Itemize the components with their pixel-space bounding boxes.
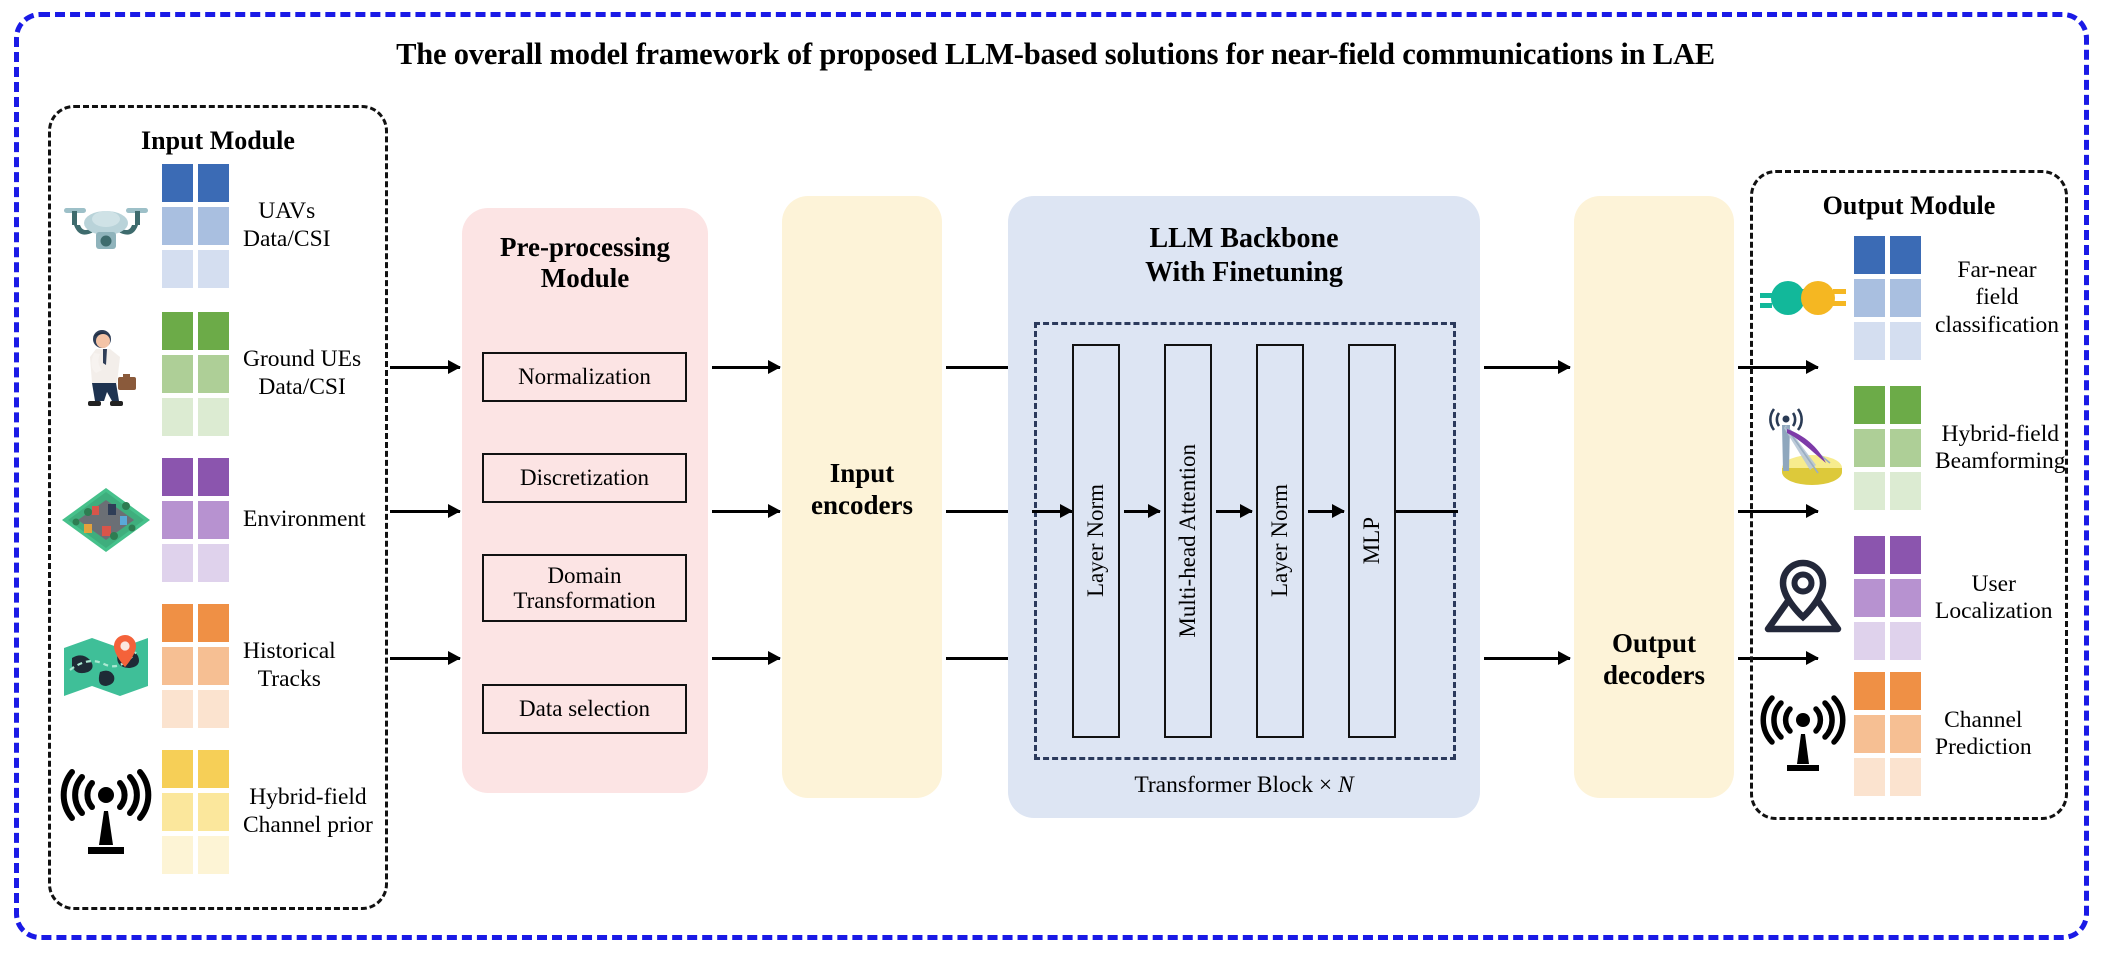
arrow-ln1-to-attention (1124, 510, 1160, 513)
list-item[interactable]: Far-near field classification (1760, 228, 2066, 368)
list-item-label: Hybrid-field Beamforming (1935, 421, 2066, 476)
swatch-grid (162, 750, 229, 874)
arrow-input-to-preprocessing-3 (390, 657, 460, 660)
swatch-grid (1854, 386, 1921, 510)
preprocessing-step-normalization[interactable]: Normalization (482, 352, 687, 402)
location-pin-map-icon (1760, 550, 1846, 646)
list-item[interactable]: Hybrid-field Channel prior (58, 744, 378, 879)
list-item-label: Environment (243, 506, 366, 533)
arrow-into-layer-norm-1 (1032, 510, 1072, 513)
swatch-grid (162, 604, 229, 728)
list-item-label: Historical Tracks (243, 638, 336, 693)
transformer-block-caption: Transformer Block × N (1008, 772, 1480, 799)
arrow-preprocessing-to-encoders-1 (712, 366, 780, 369)
preprocessing-step-discretization[interactable]: Discretization (482, 453, 687, 503)
page-title: The overall model framework of proposed … (0, 38, 2111, 72)
input-encoders-label: Input encoders (782, 458, 942, 522)
output-decoders-label: Output decoders (1574, 628, 1734, 692)
output-decoders: Output decoders (1574, 196, 1734, 798)
input-module-heading: Input Module (51, 126, 385, 156)
diagram-canvas: The overall model framework of proposed … (0, 0, 2111, 957)
swatch-grid (162, 312, 229, 436)
list-item-label: UAVs Data/CSI (243, 198, 330, 253)
preprocessing-step-domain-transformation[interactable]: Domain Transformation (482, 554, 687, 622)
swatch-grid (162, 458, 229, 582)
list-item[interactable]: UAVs Data/CSI (58, 158, 378, 293)
transformer-mlp[interactable]: MLP (1348, 344, 1396, 738)
transformer-layer-norm-1-label: Layer Norm (1083, 484, 1109, 597)
environment-map-icon (58, 472, 154, 568)
transformer-multi-head-attention-label: Multi-head Attention (1175, 444, 1201, 638)
arrow-preprocessing-to-encoders-2 (712, 510, 780, 513)
antenna-broadcast-icon (58, 764, 154, 860)
arrow-input-to-preprocessing-2 (390, 510, 460, 513)
swatch-grid (1854, 672, 1921, 796)
transformer-layer-norm-2[interactable]: Layer Norm (1256, 344, 1304, 738)
historical-tracks-icon (58, 618, 154, 714)
swatch-grid (162, 164, 229, 288)
list-item[interactable]: Hybrid-field Beamforming (1760, 378, 2066, 518)
transformer-multi-head-attention[interactable]: Multi-head Attention (1164, 344, 1212, 738)
list-item-label: Far-near field classification (1935, 257, 2059, 339)
list-item-label: User Localization (1935, 571, 2052, 626)
transformer-layer-norm-1[interactable]: Layer Norm (1072, 344, 1120, 738)
list-item-label: Hybrid-field Channel prior (243, 784, 373, 839)
arrow-input-to-preprocessing-1 (390, 366, 460, 369)
drone-icon (58, 178, 154, 274)
arrow-attention-to-ln2 (1216, 510, 1252, 513)
transformer-layer-norm-2-label: Layer Norm (1267, 484, 1293, 597)
preprocessing-title: Pre-processing Module (462, 232, 708, 295)
arrow-ln2-to-mlp (1308, 510, 1344, 513)
arrow-preprocessing-to-encoders-3 (712, 657, 780, 660)
list-item[interactable]: Channel Prediction (1760, 664, 2066, 804)
beamforming-tower-icon (1760, 400, 1846, 496)
arrow-llm-to-decoders-1 (1484, 366, 1570, 369)
list-item[interactable]: Environment (58, 452, 378, 587)
arrow-llm-to-decoders-2 (1484, 657, 1570, 660)
output-module-heading: Output Module (1753, 191, 2065, 221)
line-mlp-out (1396, 510, 1458, 513)
input-encoders: Input encoders (782, 196, 942, 798)
swatch-grid (1854, 236, 1921, 360)
preprocessing-step-data-selection[interactable]: Data selection (482, 684, 687, 734)
list-item[interactable]: Historical Tracks (58, 598, 378, 733)
list-item-label: Ground UEs Data/CSI (243, 346, 361, 401)
transformer-mlp-label: MLP (1359, 517, 1385, 564)
list-item[interactable]: Ground UEs Data/CSI (58, 306, 378, 441)
list-item[interactable]: User Localization (1760, 528, 2066, 668)
antenna-broadcast-icon (1760, 686, 1846, 782)
field-classification-icon (1760, 250, 1846, 346)
list-item-label: Channel Prediction (1935, 707, 2032, 762)
swatch-grid (1854, 536, 1921, 660)
llm-backbone-title: LLM Backbone With Finetuning (1008, 222, 1480, 289)
ground-user-icon (58, 326, 154, 422)
